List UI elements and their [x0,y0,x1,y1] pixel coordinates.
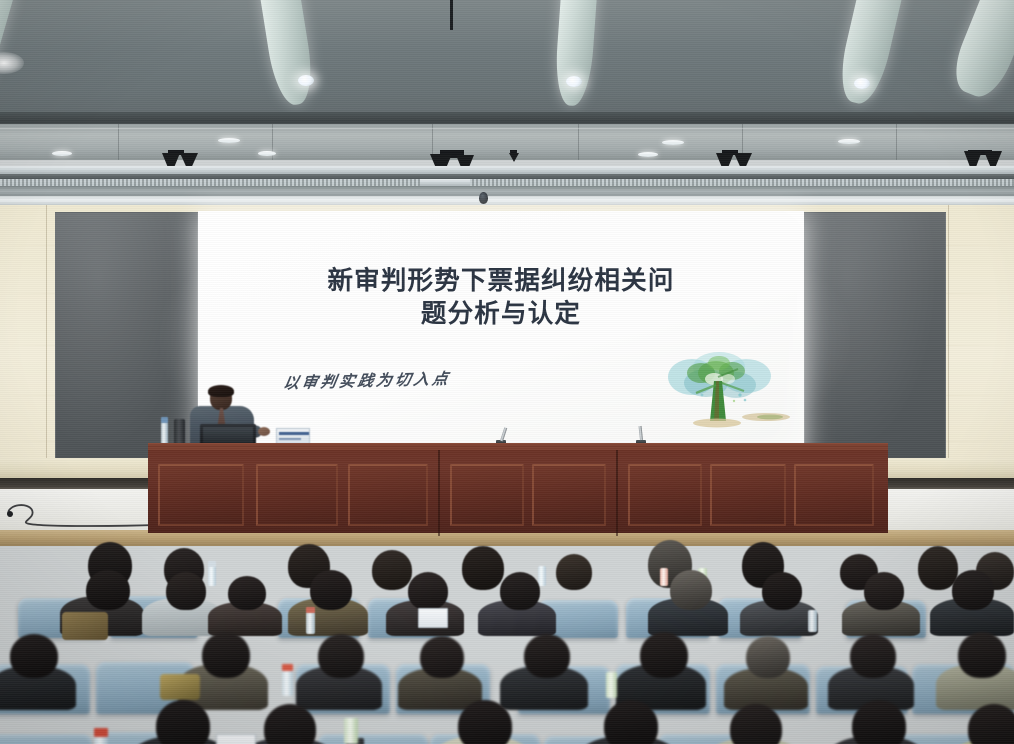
water-bottle-cap [282,664,293,671]
audience-head [958,632,1006,678]
audience-head [864,572,904,610]
podium-panel-inset [794,464,874,526]
audience-head [166,572,206,610]
slide-title-line-2: 题分析与认定 [226,298,776,331]
name-card-band [279,432,309,435]
water-bottle [94,736,108,744]
lighting-truss-rail [0,166,1014,174]
audience-seat [0,734,92,744]
name-card-band [279,438,301,440]
water-bottle [808,610,817,632]
laptop-screen [203,427,253,443]
acoustic-wall-panel-right [804,212,946,468]
podium-segment [148,450,440,536]
water-bottle-cap [94,728,108,737]
water-bottle-on-podium [161,422,168,444]
ceiling-light-strip [946,0,1014,104]
conference-hall-scene: 新审判形势下票据纠纷相关问 题分析与认定 以审判实践为切入点 [0,0,1014,744]
podium-panel-inset [348,464,428,526]
recessed-downlight [218,138,240,143]
recessed-downlight [838,139,860,144]
water-bottle-cap [306,607,315,613]
watercolor-tree-illustration [646,343,796,435]
audience-head [310,570,352,610]
presenter-hair [208,385,234,397]
ceiling-light-strip [553,0,598,107]
laptop [216,734,256,744]
projection-screen: 新审判形势下票据纠纷相关问 题分析与认定 以审判实践为切入点 [198,211,804,461]
podium-segment [618,450,888,536]
audience-head [852,700,906,744]
podium-panel-inset [710,464,786,526]
thermos-flask-on-podium [174,419,185,444]
audience-head [670,570,712,610]
audience-head [10,634,58,678]
wall-seam [948,205,949,461]
wooden-podium-desk [148,447,888,533]
podium-segment [440,450,618,536]
seated-audience [0,528,1014,744]
water-bottle [344,718,358,744]
handbag [160,674,200,700]
ceiling-light-strip [834,0,906,108]
audience-head [746,636,790,678]
audience-head [762,572,802,610]
audience-row [0,568,1014,646]
water-bottle [606,672,617,698]
wall-seam [46,205,47,461]
presenter-hand [258,427,270,436]
podium-panel-inset [158,464,244,526]
audience-head [952,570,994,610]
audience-head [640,632,688,678]
audience-row [0,714,1014,744]
podium-panel-inset [256,464,338,526]
recessed-downlight [662,140,684,145]
hall-ceiling [0,0,1014,122]
water-bottle [282,670,293,696]
audience-head [604,700,658,744]
audience-head [420,636,464,678]
water-bottle-cap [161,417,168,423]
handbag [62,612,108,640]
podium-panel-inset [450,464,524,526]
ceiling-camera [479,192,488,204]
slide-subtitle: 以审判实践为切入点 [282,367,453,394]
slide-title-line-1: 新审判形势下票据纠纷相关问 [226,265,776,298]
ceiling-light-strip [258,0,317,108]
truss-grill [470,179,1014,186]
projector-mount-stem [450,0,453,30]
water-bottle [306,612,315,634]
podium-panel-inset [628,464,702,526]
laptop [418,608,448,628]
water-bottle-cap [208,561,216,567]
audience-head [156,700,210,744]
audience-head [86,570,130,610]
audience-head [458,700,512,744]
audience-head [408,572,448,610]
truss-grill [0,179,420,186]
ceiling-downlight [298,75,314,86]
audience-seat [318,734,428,744]
audience-head [524,634,570,678]
audience-head [850,634,896,678]
audience-head [318,634,364,678]
audience-head [202,632,250,678]
ceiling-downlight [854,78,870,89]
lighting-truss-rail [0,179,1014,186]
ceiling-downlight [566,76,582,87]
ceiling-light-glow [0,52,24,74]
slide-title: 新审判形势下票据纠纷相关问 题分析与认定 [198,265,804,331]
audience-head [500,572,540,610]
audience-head [228,576,266,610]
podium-panel-inset [532,464,606,526]
floor-cable [6,500,156,528]
